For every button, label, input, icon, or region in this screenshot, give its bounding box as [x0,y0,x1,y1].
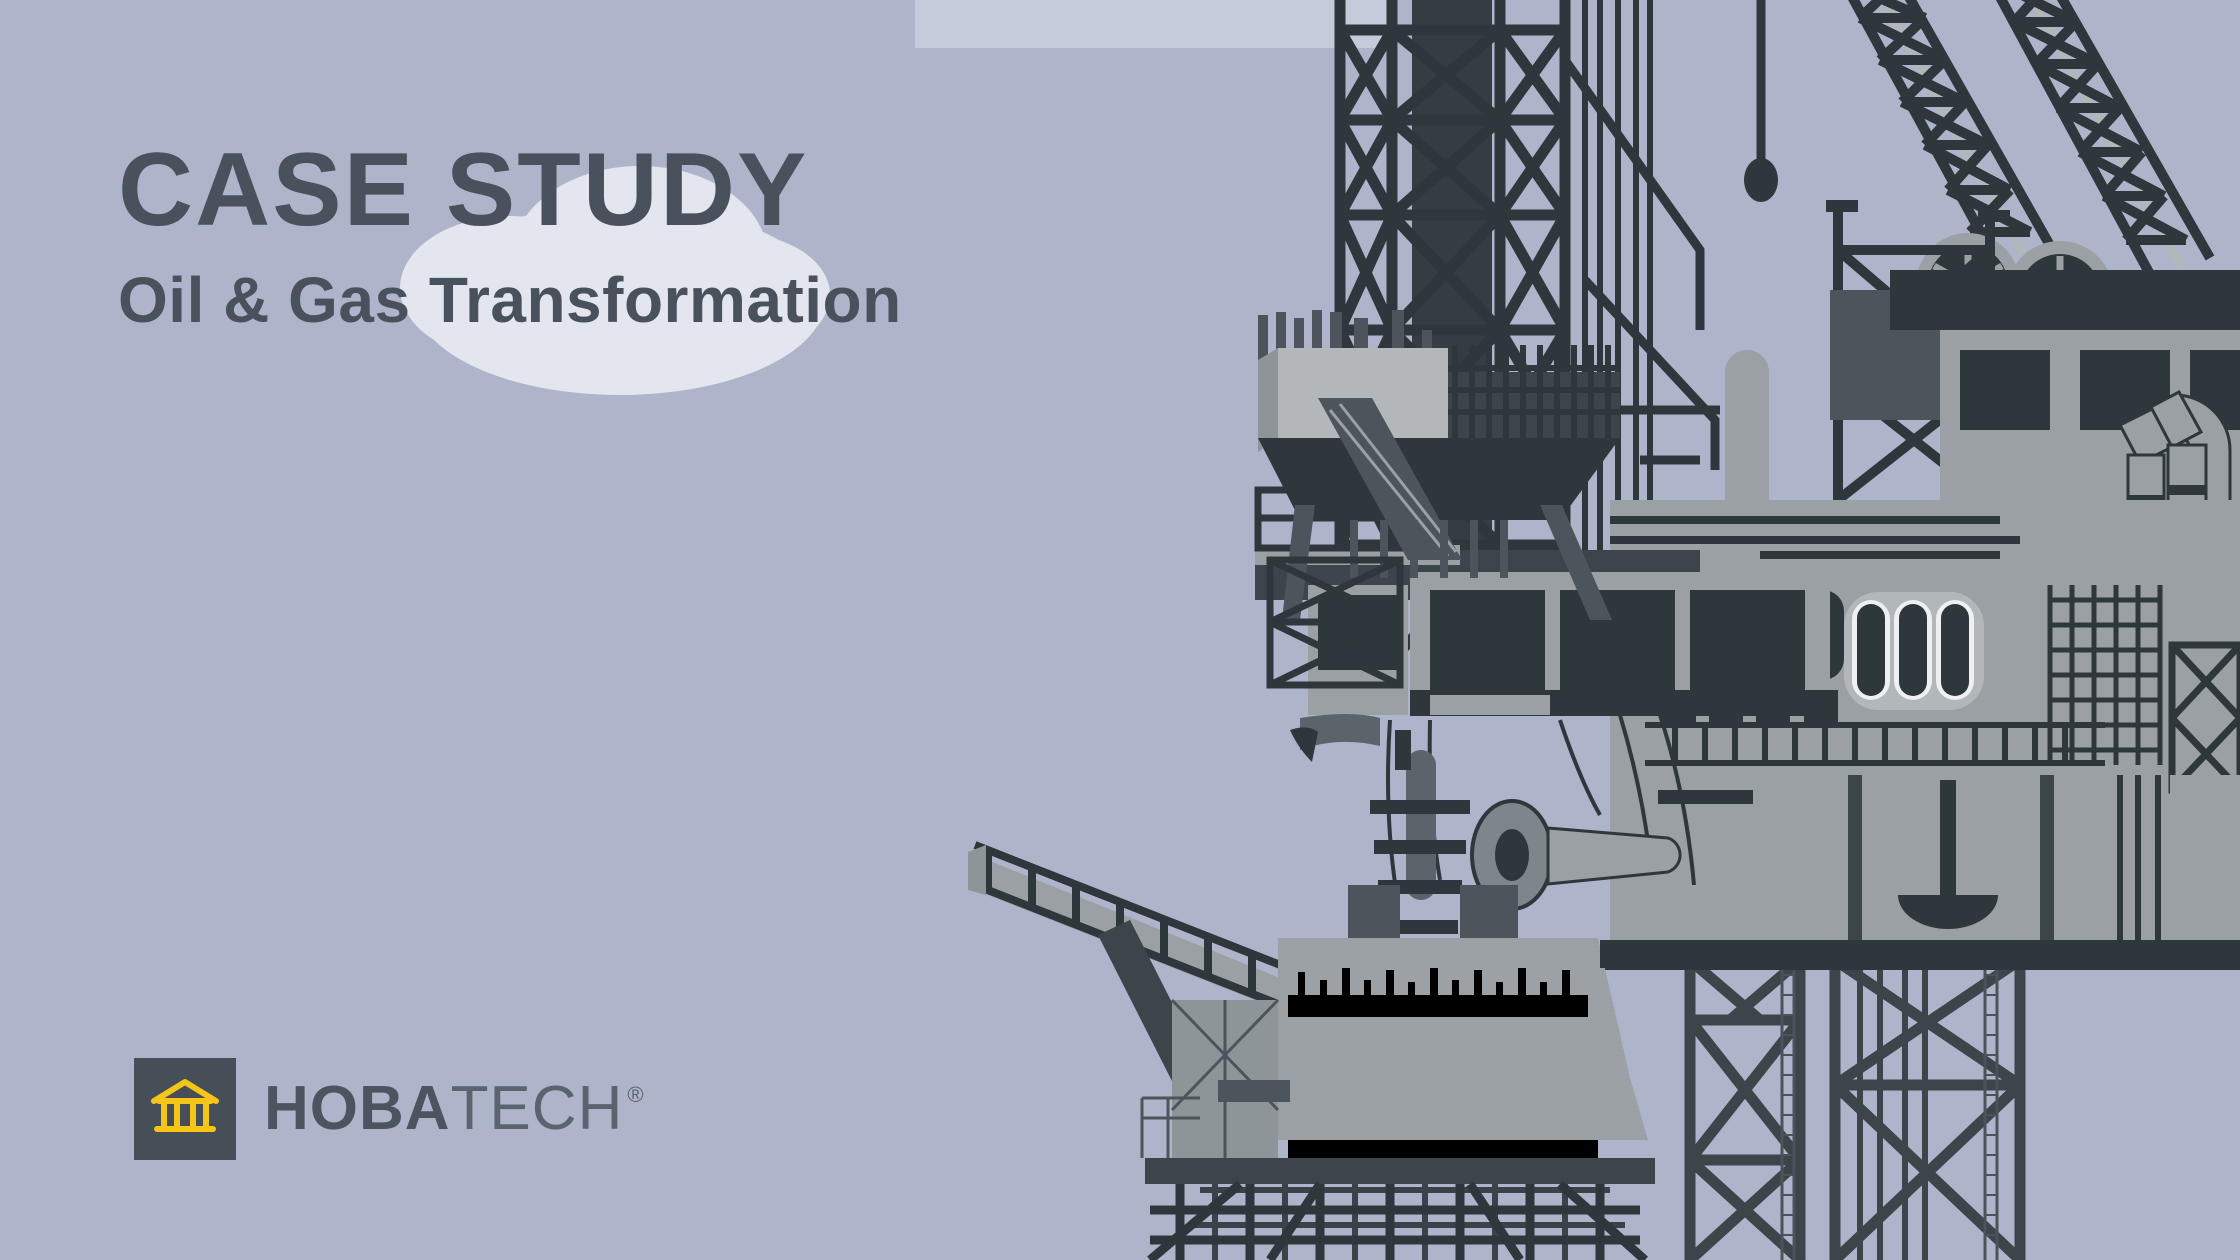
page-subtitle: Oil & Gas Transformation [118,268,902,332]
escape-capsules [1844,592,1984,710]
deck-railing [1645,725,2105,763]
headline-block: CASE STUDY Oil & Gas Transformation [118,138,902,332]
slide-canvas: CASE STUDY Oil & Gas Transformation HOBA… [0,0,2240,1260]
logo-word-tech: TECH [451,1078,624,1140]
mid-deck-band [1600,940,2240,968]
brand-logo[interactable]: HOBA TECH ® [134,1058,644,1160]
logo-mark-square [134,1058,236,1160]
registered-trademark-symbol: ® [627,1084,643,1106]
cloud-top [915,0,1395,48]
logo-word-hoba: HOBA [264,1078,451,1140]
logo-wordmark: HOBA TECH ® [264,1078,644,1140]
bank-temple-icon [149,1076,221,1142]
page-title: CASE STUDY [118,138,902,242]
